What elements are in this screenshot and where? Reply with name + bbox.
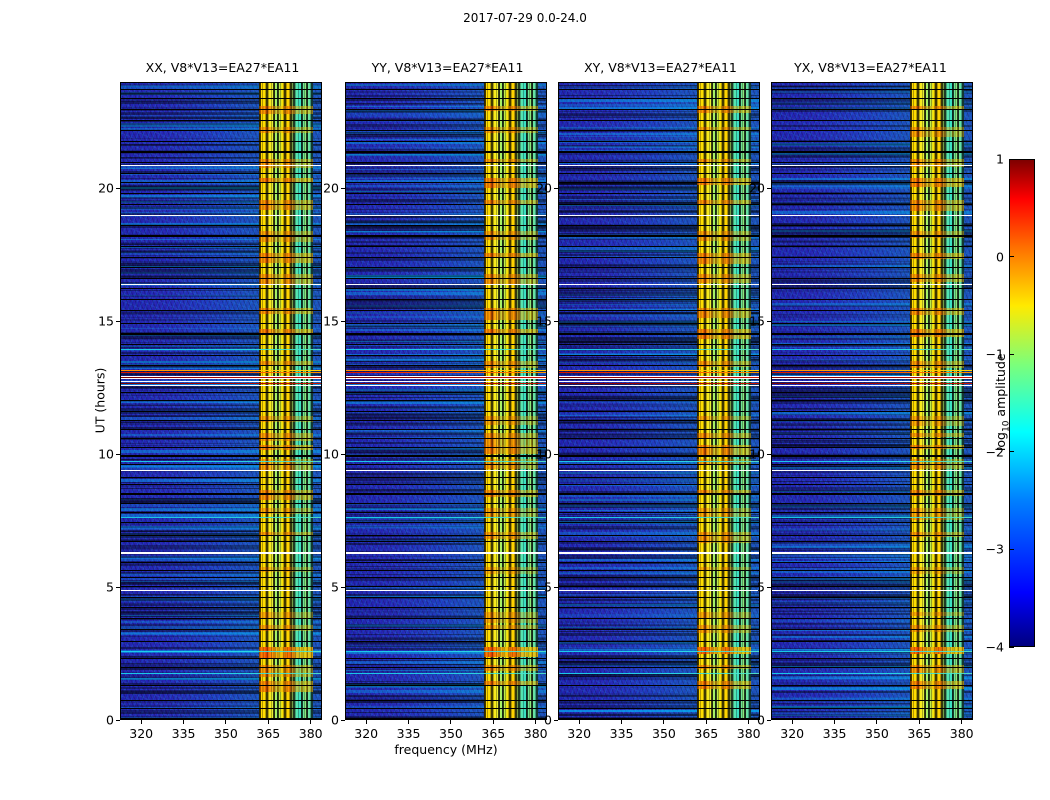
data-gap-row — [772, 378, 972, 379]
flagged-row — [772, 708, 972, 709]
y-tick-mark — [341, 321, 345, 322]
flagged-row — [346, 493, 546, 494]
flagged-row — [121, 708, 321, 709]
flagged-row — [772, 344, 972, 345]
colorbar-tick-mark — [1009, 549, 1014, 550]
flagged-row — [346, 577, 546, 578]
colorbar-tick-mark — [1009, 256, 1014, 257]
rfi-hot-row — [697, 253, 750, 264]
flagged-row — [121, 641, 321, 642]
flagged-row — [772, 392, 972, 393]
bright-scanline — [559, 588, 759, 589]
flagged-row — [346, 204, 546, 205]
flagged-row — [559, 618, 759, 619]
y-tick-mark — [554, 720, 558, 721]
flagged-row — [559, 586, 759, 587]
data-gap-row — [346, 378, 546, 379]
flagged-row — [346, 344, 546, 345]
x-tick-label: 320 — [780, 726, 804, 741]
flagged-row — [121, 141, 321, 142]
flagged-row — [346, 288, 546, 289]
bright-scanline — [559, 349, 759, 350]
flagged-row — [121, 333, 321, 334]
bright-scanline — [559, 341, 759, 342]
flagged-row — [559, 365, 759, 366]
flagged-row — [559, 344, 759, 345]
flagged-row — [346, 447, 546, 448]
flagged-row — [772, 310, 972, 311]
flagged-row — [346, 225, 546, 226]
flagged-row — [346, 89, 546, 90]
flagged-row — [559, 333, 759, 334]
flagged-row — [121, 541, 321, 542]
y-tick-mark — [767, 587, 771, 588]
rfi-hot-row — [259, 681, 312, 692]
flagged-row — [346, 400, 546, 401]
flagged-row — [559, 512, 759, 513]
y-tick-label: 15 — [524, 314, 552, 329]
flagged-row — [772, 130, 972, 131]
flagged-row — [559, 503, 759, 504]
x-tick-mark — [876, 720, 877, 724]
flagged-row — [772, 718, 972, 720]
flagged-row — [772, 420, 972, 421]
flagged-row — [121, 577, 321, 578]
colorbar-tick-label: −3 — [986, 542, 1004, 557]
flagged-row — [121, 120, 321, 121]
flagged-row — [121, 484, 321, 485]
flagged-row — [346, 541, 546, 542]
flagged-row — [772, 151, 972, 152]
flagged-row — [121, 718, 321, 720]
rfi-hot-row — [910, 665, 963, 673]
y-tick-mark — [341, 587, 345, 588]
flagged-row — [346, 597, 546, 599]
flagged-row — [559, 522, 759, 523]
flagged-row — [121, 193, 321, 194]
data-gap-row — [121, 552, 321, 554]
bright-scan-row — [121, 383, 321, 384]
flagged-row — [772, 120, 972, 121]
flagged-row — [121, 400, 321, 401]
flagged-row — [559, 267, 759, 268]
bright-scanline — [772, 574, 972, 575]
flagged-row — [772, 607, 972, 608]
flagged-row — [121, 182, 321, 183]
flagged-row — [121, 570, 321, 571]
flagged-row — [772, 278, 972, 279]
flagged-row — [559, 541, 759, 542]
flagged-row — [772, 484, 972, 485]
x-tick-label: 380 — [524, 726, 548, 741]
y-tick-mark — [341, 454, 345, 455]
flagged-row — [121, 522, 321, 523]
flagged-row — [121, 323, 321, 324]
bright-scanline — [346, 588, 546, 589]
flagged-row — [559, 641, 759, 642]
flagged-row — [559, 355, 759, 356]
data-gap-row — [346, 381, 546, 382]
data-gap-row — [121, 378, 321, 379]
y-tick-label: 0 — [524, 713, 552, 728]
flagged-row — [346, 257, 546, 258]
x-tick-label: 320 — [354, 726, 378, 741]
flagged-row — [772, 577, 972, 578]
rfi-hot-row — [910, 416, 963, 426]
flagged-row — [121, 658, 321, 659]
flagged-row — [121, 151, 321, 152]
flagged-row — [559, 310, 759, 311]
data-gap-row — [559, 378, 759, 379]
flagged-row — [346, 98, 546, 99]
flagged-row — [559, 685, 759, 686]
flagged-row — [346, 278, 546, 279]
x-tick-mark — [919, 720, 920, 724]
data-gap-row — [559, 215, 759, 216]
flagged-row — [559, 246, 759, 247]
panel-title-yx: YX, V8*V13=EA27*EA11 — [758, 60, 983, 76]
flagged-row — [772, 522, 972, 523]
x-tick-label: 380 — [737, 726, 761, 741]
bright-scanline — [346, 349, 546, 350]
colorbar-tick-label: 1 — [996, 152, 1004, 167]
bright-scanline — [772, 673, 972, 674]
flagged-row — [346, 333, 546, 334]
flagged-row — [121, 464, 321, 465]
x-tick-label: 350 — [214, 726, 238, 741]
x-tick-label: 350 — [652, 726, 676, 741]
flagged-row — [346, 535, 546, 536]
bright-scanline — [559, 135, 759, 136]
bright-scanline — [121, 574, 321, 575]
flagged-row — [346, 182, 546, 183]
flagged-row — [772, 246, 972, 247]
x-tick-label: 380 — [950, 726, 974, 741]
flagged-row — [559, 130, 759, 131]
flagged-row — [559, 607, 759, 608]
y-tick-mark — [116, 454, 120, 455]
colorbar[interactable] — [1009, 159, 1035, 647]
y-tick-label: 15 — [311, 314, 339, 329]
panel-title-xx: XX, V8*V13=EA27*EA11 — [110, 60, 335, 76]
y-tick-label: 5 — [86, 580, 114, 595]
rfi-hot-row — [484, 508, 537, 517]
flagged-row — [772, 411, 972, 412]
flagged-row — [121, 447, 321, 448]
x-tick-label: 365 — [907, 726, 931, 741]
flagged-row — [121, 310, 321, 311]
flagged-row — [346, 708, 546, 709]
flagged-row — [121, 392, 321, 393]
flagged-row — [559, 141, 759, 142]
flagged-row — [121, 685, 321, 686]
flagged-row — [346, 484, 546, 485]
flagged-row — [772, 429, 972, 430]
bright-scanline — [121, 461, 321, 462]
flagged-row — [559, 718, 759, 720]
y-tick-mark — [116, 321, 120, 322]
flagged-row — [346, 570, 546, 571]
waterfall-panel-xx[interactable] — [120, 82, 322, 720]
flagged-row — [346, 235, 546, 236]
flagged-row — [121, 173, 321, 174]
flagged-row — [559, 667, 759, 668]
flagged-row — [559, 420, 759, 421]
flagged-row — [559, 392, 759, 393]
flagged-row — [121, 130, 321, 131]
flagged-row — [772, 464, 972, 465]
flagged-row — [559, 411, 759, 412]
y-tick-label: 20 — [737, 181, 765, 196]
rfi-hot-row — [484, 647, 537, 656]
flagged-row — [559, 629, 759, 630]
data-gap-row — [772, 470, 972, 471]
flagged-row — [346, 685, 546, 686]
y-tick-mark — [116, 188, 120, 189]
x-tick-mark — [450, 720, 451, 724]
flagged-row — [772, 493, 972, 494]
rfi-hot-row — [910, 508, 963, 520]
data-gap-row — [772, 215, 972, 216]
x-tick-mark — [706, 720, 707, 724]
flagged-row — [121, 455, 321, 456]
flagged-row — [772, 182, 972, 183]
flagged-row — [772, 400, 972, 401]
panel-title-xy: XY, V8*V13=EA27*EA11 — [548, 60, 773, 76]
flagged-row — [346, 365, 546, 366]
bright-scanline — [121, 588, 321, 589]
y-tick-mark — [554, 188, 558, 189]
flagged-row — [346, 522, 546, 523]
x-tick-mark — [141, 720, 142, 724]
flagged-row — [346, 130, 546, 131]
x-tick-mark — [183, 720, 184, 724]
bright-scanline — [121, 341, 321, 342]
flagged-row — [559, 193, 759, 194]
x-axis-label: frequency (MHz) — [345, 742, 547, 757]
flagged-row — [772, 586, 972, 587]
flagged-row — [121, 667, 321, 668]
flagged-row — [559, 182, 759, 183]
flagged-row — [121, 365, 321, 366]
colorbar-tick-mark — [1009, 647, 1014, 648]
flagged-row — [121, 344, 321, 345]
rfi-hot-row — [910, 308, 963, 315]
x-tick-mark — [268, 720, 269, 724]
bright-scan-row — [559, 380, 759, 381]
data-gap-row — [559, 470, 759, 471]
data-gap-row — [559, 376, 759, 377]
flagged-row — [346, 618, 546, 619]
flagged-row — [772, 477, 972, 478]
flagged-row — [772, 173, 972, 174]
rfi-hot-row — [259, 490, 312, 501]
figure-canvas: 2017-07-29 0.0-24.0 XX, V8*V13=EA27*EA11… — [0, 0, 1050, 800]
waterfall-panel-yy[interactable] — [345, 82, 547, 720]
flagged-row — [121, 235, 321, 236]
data-gap-row — [121, 376, 321, 377]
flagged-row — [346, 173, 546, 174]
flagged-row — [346, 607, 546, 608]
flagged-row — [346, 151, 546, 152]
flagged-row — [772, 141, 972, 142]
data-gap-row — [346, 552, 546, 554]
flagged-row — [121, 278, 321, 279]
bright-scan-row — [559, 383, 759, 384]
data-gap-row — [772, 376, 972, 377]
flagged-row — [772, 629, 972, 630]
scanline — [772, 719, 972, 720]
flagged-row — [346, 477, 546, 478]
bright-scanline — [559, 461, 759, 462]
flagged-row — [559, 235, 759, 236]
flagged-row — [559, 455, 759, 456]
y-tick-label: 5 — [737, 580, 765, 595]
flagged-row — [121, 438, 321, 439]
flagged-row — [772, 193, 972, 194]
flagged-row — [346, 420, 546, 421]
flagged-row — [346, 193, 546, 194]
flagged-row — [121, 700, 321, 701]
flagged-row — [346, 455, 546, 456]
bright-scanline — [772, 588, 972, 589]
flagged-row — [346, 299, 546, 300]
data-gap-row — [559, 552, 759, 554]
flagged-row — [346, 141, 546, 142]
x-tick-mark — [663, 720, 664, 724]
rfi-hot-row — [484, 274, 537, 285]
y-tick-mark — [767, 188, 771, 189]
flagged-row — [346, 267, 546, 268]
bright-scanline — [559, 673, 759, 674]
flagged-row — [772, 700, 972, 701]
y-tick-label: 20 — [524, 181, 552, 196]
flagged-row — [772, 162, 972, 163]
flagged-row — [346, 562, 546, 563]
flagged-row — [121, 98, 321, 99]
flagged-row — [121, 420, 321, 421]
flagged-row — [559, 299, 759, 300]
y-tick-mark — [341, 188, 345, 189]
flagged-row — [559, 429, 759, 430]
flagged-row — [559, 438, 759, 439]
flagged-row — [559, 225, 759, 226]
flagged-row — [121, 246, 321, 247]
y-tick-mark — [116, 720, 120, 721]
panel-title-yy: YY, V8*V13=EA27*EA11 — [335, 60, 560, 76]
flagged-row — [121, 512, 321, 513]
data-gap-row — [346, 376, 546, 377]
x-tick-label: 350 — [439, 726, 463, 741]
flagged-row — [559, 658, 759, 659]
flagged-row — [346, 512, 546, 513]
rfi-hot-row — [259, 231, 312, 242]
flagged-row — [559, 109, 759, 110]
flagged-row — [772, 455, 972, 456]
bright-scan-row — [121, 380, 321, 381]
flagged-row — [121, 477, 321, 478]
waterfall-panel-yx[interactable] — [771, 82, 973, 720]
flagged-row — [772, 641, 972, 642]
flagged-row — [121, 535, 321, 536]
flagged-row — [772, 323, 972, 324]
y-tick-label: 15 — [86, 314, 114, 329]
rfi-hot-row — [259, 274, 312, 284]
bright-scanline — [346, 135, 546, 136]
flagged-row — [772, 225, 972, 226]
flagged-row — [559, 447, 759, 448]
flagged-row — [772, 288, 972, 289]
flagged-row — [772, 658, 972, 659]
colorbar-tick-label: −4 — [986, 640, 1004, 655]
data-gap-row — [346, 215, 546, 216]
x-tick-label: 335 — [610, 726, 634, 741]
flagged-row — [346, 411, 546, 412]
y-tick-label: 10 — [311, 447, 339, 462]
x-tick-mark — [579, 720, 580, 724]
rfi-hot-row — [484, 433, 537, 445]
flagged-row — [772, 562, 972, 563]
x-tick-label: 365 — [481, 726, 505, 741]
x-tick-label: 335 — [823, 726, 847, 741]
data-gap-row — [121, 470, 321, 471]
flagged-row — [121, 299, 321, 300]
y-tick-label: 10 — [524, 447, 552, 462]
flagged-row — [559, 464, 759, 465]
bright-scanline — [121, 673, 321, 674]
colorbar-tick-label: 0 — [996, 249, 1004, 264]
flagged-row — [121, 89, 321, 90]
bright-scanline — [346, 341, 546, 342]
flagged-row — [121, 618, 321, 619]
y-tick-label: 20 — [86, 181, 114, 196]
data-gap-row — [346, 470, 546, 471]
bright-scan-row — [772, 383, 972, 384]
flagged-row — [559, 700, 759, 701]
bright-scan-row — [772, 380, 972, 381]
waterfall-panel-xy[interactable] — [558, 82, 760, 720]
flagged-row — [772, 512, 972, 513]
flagged-row — [346, 323, 546, 324]
bright-scan-row — [346, 383, 546, 384]
flagged-row — [121, 355, 321, 356]
flagged-row — [559, 477, 759, 478]
flagged-row — [772, 597, 972, 599]
flagged-row — [121, 586, 321, 587]
bright-scanline — [346, 673, 546, 674]
flagged-row — [772, 570, 972, 571]
y-tick-mark — [116, 587, 120, 588]
bright-scanline — [121, 349, 321, 350]
flagged-row — [346, 392, 546, 393]
rfi-hot-row — [910, 159, 963, 168]
flagged-row — [346, 586, 546, 587]
flagged-row — [772, 89, 972, 90]
y-tick-label: 10 — [737, 447, 765, 462]
x-tick-mark — [961, 720, 962, 724]
flagged-row — [772, 355, 972, 356]
y-tick-label: 5 — [524, 580, 552, 595]
x-tick-label: 320 — [129, 726, 153, 741]
flagged-row — [559, 204, 759, 205]
flagged-row — [346, 120, 546, 121]
flagged-row — [346, 310, 546, 311]
flagged-row — [559, 562, 759, 563]
flagged-row — [559, 597, 759, 599]
data-gap-row — [772, 552, 972, 554]
flagged-row — [121, 411, 321, 412]
flagged-row — [559, 278, 759, 279]
